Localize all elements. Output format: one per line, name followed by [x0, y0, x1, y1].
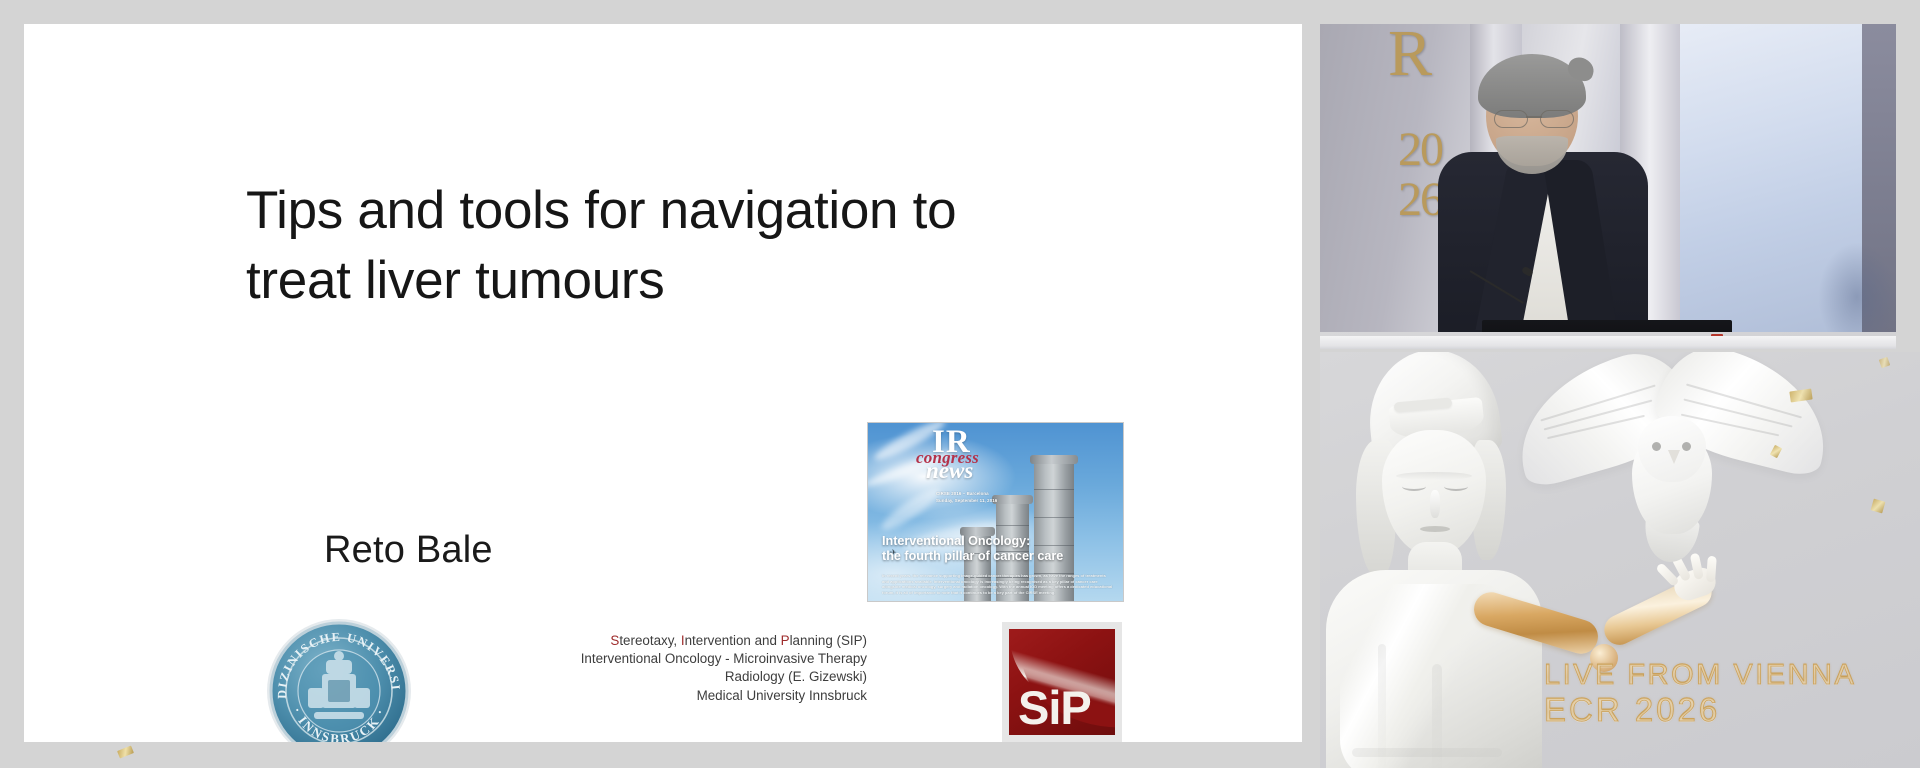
affiliation-line-4: Medical University Innsbruck — [537, 687, 867, 705]
athena-nose — [1430, 490, 1440, 518]
magazine-headline: Interventional Oncology: the fourth pill… — [882, 534, 1113, 563]
confetti-flake — [1871, 499, 1886, 514]
speaker-name: Reto Bale — [324, 529, 493, 572]
magazine-headline-line-1: Interventional Oncology: — [882, 534, 1113, 549]
athena-eye-left — [1402, 482, 1426, 491]
backdrop-year-top: 20 — [1398, 122, 1442, 177]
magazine-date-line-1: CIRSE 2016 – Barcelona — [936, 491, 989, 497]
event-branding-panel[interactable]: LIVE FROM VIENNA ECR 2026 — [1320, 352, 1920, 768]
magazine-date-line-2: Sunday, September 11, 2016 — [936, 498, 997, 504]
owl-figure — [1516, 358, 1816, 588]
magazine-headline-line-2: the fourth pillar of cancer care — [882, 549, 1113, 564]
athena-lips — [1420, 526, 1450, 532]
presentation-slide[interactable]: Tips and tools for navigation to treat l… — [24, 24, 1302, 742]
university-seal-logo: MEDIZINISCHE UNIVERSITÄT · INNSBRUCK · — [264, 616, 414, 742]
athena-brow — [1396, 472, 1472, 480]
slide-title-line-1: Tips and tools for navigation to — [246, 176, 1066, 246]
affiliation-b: ntervention and — [685, 633, 781, 648]
affiliation-p: P — [781, 633, 790, 648]
speaker-glasses-icon — [1494, 110, 1574, 127]
affiliation-s: S — [610, 633, 619, 648]
branding-line-1: LIVE FROM VIENNA — [1544, 659, 1856, 692]
magazine-news-word: news — [926, 458, 973, 484]
athena-eye-right — [1444, 482, 1468, 491]
owl-face — [1638, 416, 1706, 482]
affiliation-c: lanning (SIP) — [790, 633, 867, 648]
podium-microphone — [1470, 252, 1530, 330]
owl-eye-left — [1652, 442, 1661, 451]
slide-title-line-2: treat liver tumours — [246, 246, 1066, 316]
affiliation-block: Stereotaxy, Intervention and Planning (S… — [537, 632, 867, 705]
sip-logo-text: SiP — [1018, 684, 1091, 731]
event-branding-text: LIVE FROM VIENNA ECR 2026 — [1544, 659, 1856, 728]
backdrop-year-bottom: 26 — [1398, 172, 1442, 227]
sip-logo: SiP — [1002, 622, 1122, 742]
affiliation-line-1: Stereotaxy, Intervention and Planning (S… — [537, 632, 867, 650]
podium-surface — [1320, 336, 1896, 349]
owl-eye-right — [1682, 442, 1691, 451]
live-speaker-video[interactable]: R 20 26 iiyama — [1320, 24, 1896, 349]
affiliation-a: tereotaxy, — [619, 633, 681, 648]
affiliation-line-3: Radiology (E. Gizewski) — [537, 668, 867, 686]
screen-root: Tips and tools for navigation to treat l… — [0, 0, 1920, 768]
magazine-cover-image: ✈ IR congress news CIRSE 2016 – Barcelon… — [867, 422, 1124, 602]
athena-belt — [1352, 748, 1502, 757]
backdrop-letter-r: R — [1388, 24, 1432, 92]
sip-logo-square: SiP — [1009, 629, 1115, 735]
confetti-flake — [117, 745, 134, 758]
slide-title: Tips and tools for navigation to treat l… — [246, 176, 1066, 316]
magazine-body-text: In recent years, the relevance supportin… — [882, 573, 1113, 595]
confetti-flake — [1879, 357, 1891, 369]
branding-line-2: ECR 2026 — [1544, 692, 1856, 728]
affiliation-line-2: Interventional Oncology - Microinvasive … — [537, 650, 867, 668]
owl-beak — [1668, 450, 1680, 464]
